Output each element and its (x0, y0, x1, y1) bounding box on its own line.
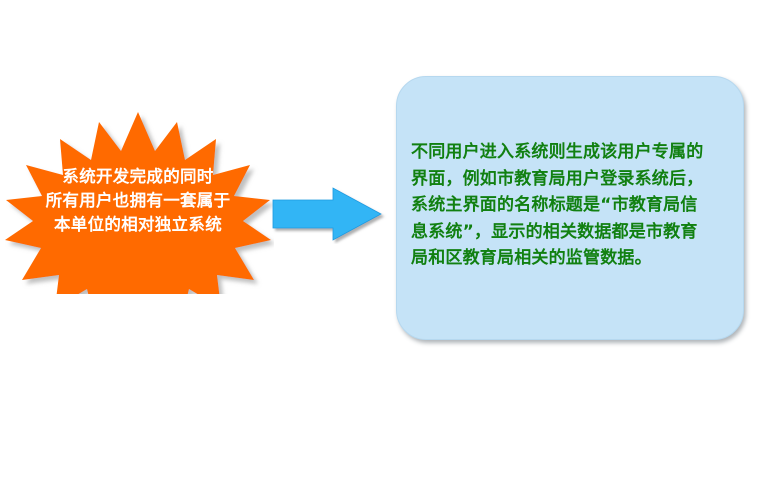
explosion-star-icon (2, 108, 274, 294)
right-arrow-icon (271, 186, 387, 244)
info-text-line-1: 不同用户进入系统则生成该用户专属的 (411, 139, 737, 166)
info-text-line-5: 局和区教育局相关的监管数据。 (411, 245, 737, 272)
info-text-line-3: 系统主界面的名称标题是“市教育局信 (411, 192, 737, 219)
info-text-line-4: 息系统”，显示的相关数据都是市教育 (411, 219, 737, 246)
info-box-text: 不同用户进入系统则生成该用户专属的 界面，例如市教育局用户登录系统后， 系统主界… (411, 139, 737, 272)
info-rounded-rectangle[interactable]: 不同用户进入系统则生成该用户专属的 界面，例如市教育局用户登录系统后， 系统主界… (396, 76, 744, 340)
explosion-star-callout[interactable]: 系统开发完成的同时 所有用户也拥有一套属于 本单位的相对独立系统 (2, 108, 274, 294)
info-text-line-2: 界面，例如市教育局用户登录系统后， (411, 166, 737, 193)
right-arrow-connector[interactable] (271, 186, 387, 244)
slide-canvas: 系统开发完成的同时 所有用户也拥有一套属于 本单位的相对独立系统 不同用户进入系… (0, 0, 768, 488)
